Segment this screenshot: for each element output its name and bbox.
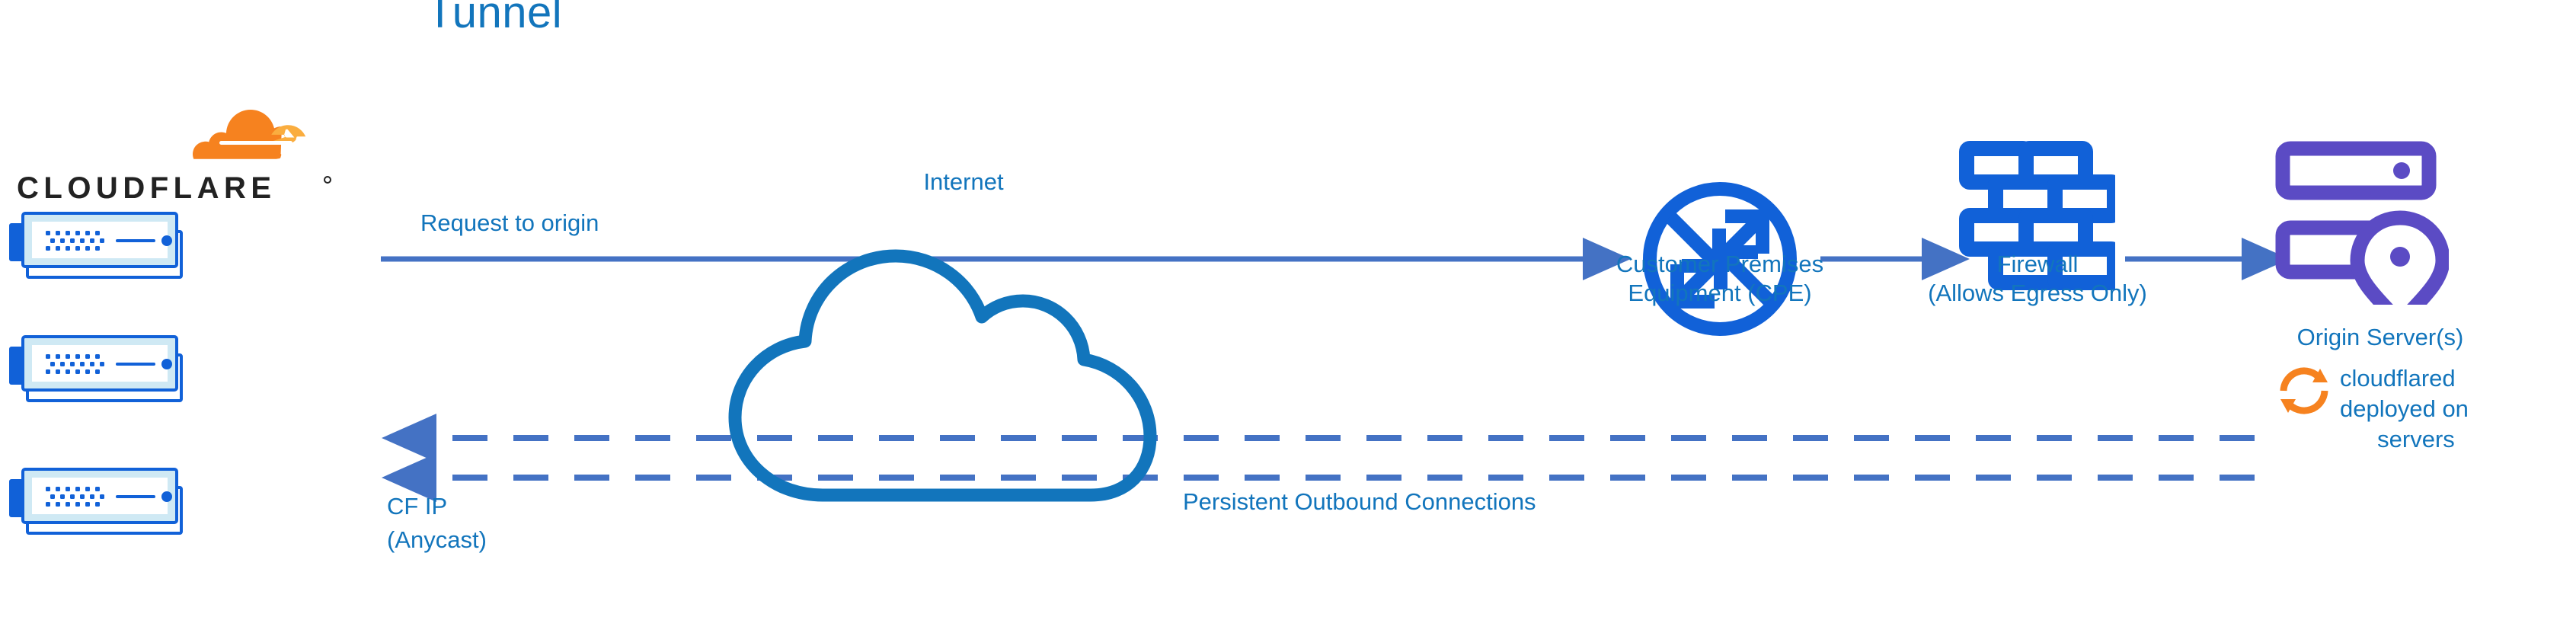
- cpe-label-line2: Equipment (CPE): [1587, 279, 1853, 308]
- cpe-label-line1: Customer Premises: [1587, 250, 1853, 279]
- cloudflared-label-line3: servers: [2340, 425, 2492, 454]
- cf-ip-label-line1: CF IP: [387, 492, 447, 521]
- cloud-icon: [701, 229, 1219, 510]
- firewall-label-line2: (Allows Egress Only): [1904, 279, 2171, 308]
- origin-servers-label: Origin Server(s): [2255, 323, 2506, 352]
- connector-layer: [0, 0, 2576, 617]
- persistent-outbound-label: Persistent Outbound Connections: [1183, 488, 1536, 516]
- firewall-label-line1: Firewall: [1919, 250, 2156, 279]
- sync-arrows-icon: [2274, 361, 2334, 420]
- diagram-canvas: Tunnel CLOUDFLARE: [0, 0, 2576, 617]
- origin-server-icon: [2274, 141, 2449, 305]
- cf-ip-label-line2: (Anycast): [387, 526, 487, 555]
- cloudflared-label-line1: cloudflared: [2340, 364, 2456, 393]
- cloudflared-label-line2: deployed on: [2340, 395, 2469, 424]
- internet-label: Internet: [838, 168, 1089, 197]
- request-to-origin-label: Request to origin: [420, 209, 599, 238]
